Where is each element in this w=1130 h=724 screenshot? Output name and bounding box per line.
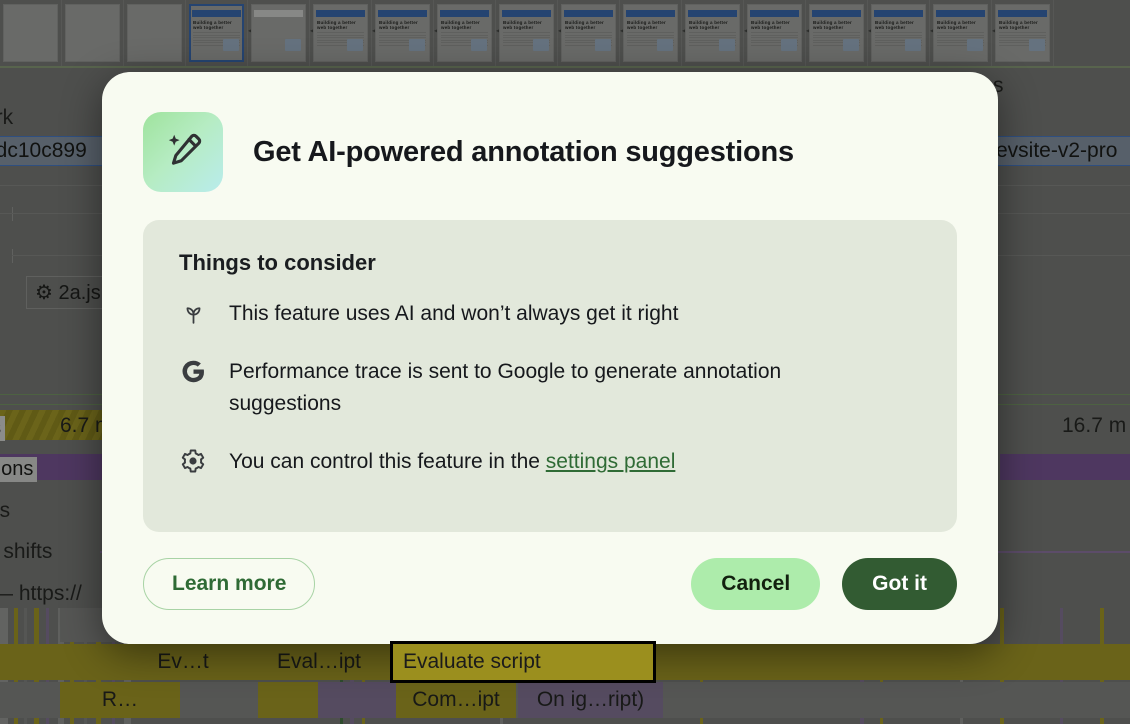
magic-pencil-icon — [143, 112, 223, 192]
consider-item-text: You can control this feature in the sett… — [229, 446, 675, 478]
devtools-performance-screen: Building a better web together ◂ ◂ Build… — [0, 0, 1130, 724]
got-it-button[interactable]: Got it — [842, 558, 957, 610]
things-to-consider-heading: Things to consider — [179, 250, 921, 276]
consider-item-text: Performance trace is sent to Google to g… — [229, 356, 869, 420]
google-g-icon — [179, 356, 207, 386]
flame-block-selected[interactable]: Evaluate script — [393, 644, 653, 680]
dialog-actions: Learn more Cancel Got it — [143, 558, 957, 610]
primary-actions: Cancel Got it — [691, 558, 957, 610]
sprout-icon — [179, 298, 207, 328]
dialog-header: Get AI-powered annotation suggestions — [143, 112, 957, 192]
consider-item-settings: You can control this feature in the sett… — [179, 446, 921, 478]
consider-item-trace-sent: Performance trace is sent to Google to g… — [179, 356, 921, 420]
ai-annotation-suggestions-dialog: Get AI-powered annotation suggestions Th… — [102, 72, 998, 644]
learn-more-button[interactable]: Learn more — [143, 558, 315, 610]
consider-item-text-prefix: You can control this feature in the — [229, 450, 546, 473]
settings-panel-link[interactable]: settings panel — [546, 450, 676, 473]
gear-icon — [179, 446, 207, 476]
consider-item-text: This feature uses AI and won’t always ge… — [229, 298, 678, 330]
cancel-button[interactable]: Cancel — [691, 558, 820, 610]
things-to-consider-card: Things to consider This feature uses AI … — [143, 220, 957, 532]
consider-item-ai-accuracy: This feature uses AI and won’t always ge… — [179, 298, 921, 330]
dialog-title: Get AI-powered annotation suggestions — [253, 136, 794, 169]
